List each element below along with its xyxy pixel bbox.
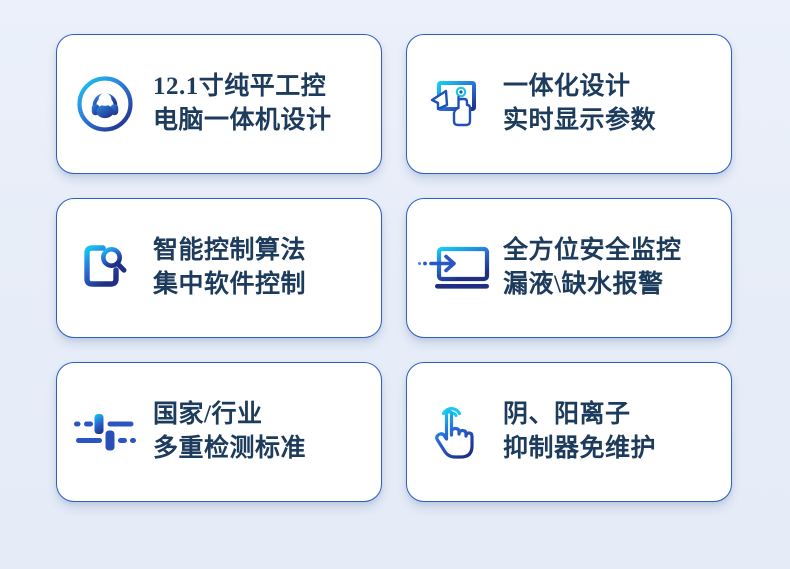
feature-card-5-text: 国家/行业 多重检测标准	[153, 398, 381, 466]
headset-circle-icon	[57, 35, 153, 173]
feature-card-6-line-2: 抑制器免维护	[503, 432, 721, 466]
feature-card-3[interactable]: 智能控制算法 集中软件控制	[56, 198, 382, 338]
feature-card-1-text: 12.1寸纯平工控 电脑一体机设计	[153, 70, 381, 138]
feature-card-1-line-1: 12.1寸纯平工控	[153, 70, 371, 104]
sliders-icon	[57, 363, 153, 501]
feature-card-4-line-1: 全方位安全监控	[503, 234, 721, 268]
feature-card-4-line-2: 漏液\缺水报警	[503, 268, 721, 302]
feature-card-6-line-1: 阴、阳离子	[503, 398, 721, 432]
feature-card-2-line-1: 一体化设计	[503, 70, 721, 104]
feature-cards-page: 12.1寸纯平工控 电脑一体机设计	[0, 0, 790, 569]
feature-card-5-line-1: 国家/行业	[153, 398, 371, 432]
feature-card-6[interactable]: 阴、阳离子 抑制器免维护	[406, 362, 732, 502]
feature-card-5[interactable]: 国家/行业 多重检测标准	[56, 362, 382, 502]
feature-card-3-line-2: 集中软件控制	[153, 268, 371, 302]
feature-card-2[interactable]: 一体化设计 实时显示参数	[406, 34, 732, 174]
feature-card-grid: 12.1寸纯平工控 电脑一体机设计	[56, 34, 732, 502]
feature-card-2-line-2: 实时显示参数	[503, 104, 721, 138]
document-search-icon	[57, 199, 153, 337]
feature-card-5-line-2: 多重检测标准	[153, 432, 371, 466]
monitor-arrow-in-icon	[407, 199, 503, 337]
feature-card-1[interactable]: 12.1寸纯平工控 电脑一体机设计	[56, 34, 382, 174]
touchscreen-hand-icon	[407, 35, 503, 173]
feature-card-4[interactable]: 全方位安全监控 漏液\缺水报警	[406, 198, 732, 338]
feature-card-2-text: 一体化设计 实时显示参数	[503, 70, 731, 138]
feature-card-6-text: 阴、阳离子 抑制器免维护	[503, 398, 731, 466]
feature-card-3-text: 智能控制算法 集中软件控制	[153, 234, 381, 302]
feature-card-3-line-1: 智能控制算法	[153, 234, 371, 268]
feature-card-1-line-2: 电脑一体机设计	[153, 104, 371, 138]
hand-tap-icon	[407, 363, 503, 501]
feature-card-4-text: 全方位安全监控 漏液\缺水报警	[503, 234, 731, 302]
